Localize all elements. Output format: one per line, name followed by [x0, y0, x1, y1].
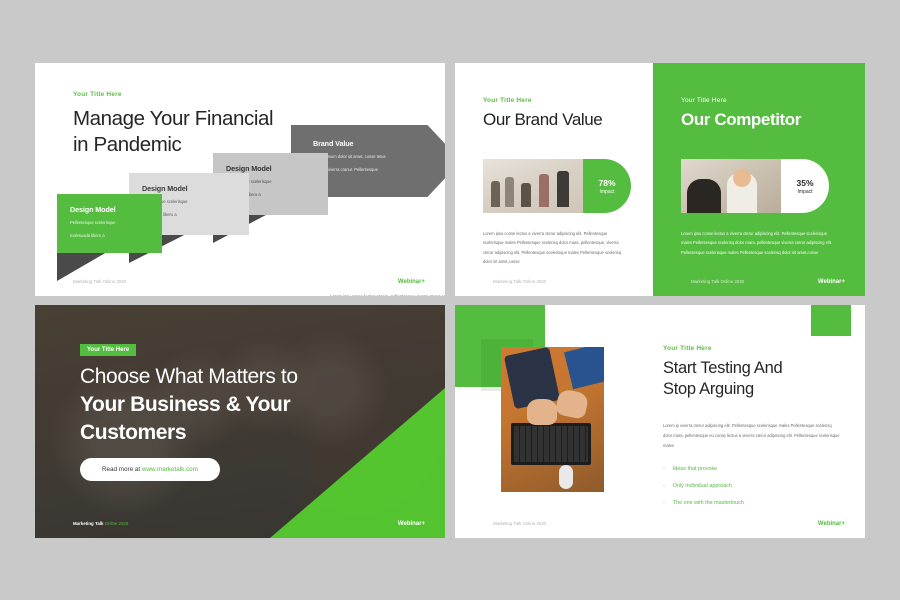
read-more-button[interactable]: Read more at www.marketalk.com [80, 458, 220, 481]
photo-mouse [559, 465, 573, 489]
slide-2-our-brand-value[interactable]: Your Title Here Our Brand Value 78% Impa… [455, 63, 653, 296]
arrow-step-1-title: Design Model [70, 205, 149, 214]
slide-1-manage-your-financial[interactable]: Your Title Here Manage Your Financial in… [35, 63, 445, 296]
photo-figure [521, 183, 531, 207]
slide-3-our-competitor[interactable]: Your Title Here Our Competitor 35% Impac… [653, 63, 865, 296]
slide-4-tag-wrap: Your Title Here [80, 338, 136, 356]
slide-2-kicker: Your Title Here [483, 97, 627, 104]
slide-2-badge-label: Impact [599, 189, 614, 195]
slide-4-tag: Your Title Here [80, 344, 136, 356]
slide-3-photo-business-meeting [681, 159, 781, 213]
slide-3-badge-label: Impact [797, 189, 812, 195]
photo-figure [505, 177, 514, 207]
arrow-step-1-line-2: malesuada libero a [70, 232, 149, 240]
slide-5-title: Start Testing And Stop Arguing [663, 358, 841, 401]
slide-3-photo-badge-row: 35% Impact [681, 159, 829, 213]
slide-1-logo: Webinar+ [398, 279, 425, 285]
arrow-step-1-shadow [57, 253, 105, 281]
slide-4-footer-rest: Online 2020 [105, 521, 129, 526]
slide-5-bullet-list: - Ideas that provoke - Only individual a… [663, 466, 841, 506]
read-more-prefix: Read more at [102, 466, 142, 473]
photo-figure [687, 179, 721, 213]
photo-figure [539, 174, 549, 207]
slide-5-list-item-label: Ideas that provoke [673, 466, 717, 472]
arrow-step-2-title: Design Model [142, 184, 236, 193]
slide-5-title-line-2: Stop Arguing [663, 379, 841, 400]
slide-5-footer: Marketing Talk Online 2020 [493, 521, 546, 526]
slide-3-kicker: Your Title Here [681, 97, 839, 104]
slide-4-choose-what-matters[interactable]: Your Title Here Choose What Matters to Y… [35, 305, 445, 538]
photo-monitor [564, 347, 604, 389]
photo-figure [733, 169, 751, 187]
slide-2-title: Our Brand Value [483, 110, 627, 130]
slide-2-photo-office-meeting [483, 159, 583, 213]
slide-5-list-item[interactable]: - Only individual approach [663, 483, 841, 489]
slide-3-paragraph: Lorem ipsu conse lectus a viverra cterur… [681, 229, 839, 257]
slide-3-impact-badge: 35% Impact [781, 159, 829, 213]
slide-5-list-item[interactable]: - Ideas that provoke [663, 466, 841, 472]
slide-1-bullet-text: Lorem ipsu conse lectus ornare, pellente… [330, 293, 445, 296]
slide-5-start-testing[interactable]: Your Title Here Start Testing And Stop A… [455, 305, 865, 538]
slide-4-title-line-1: Choose What Matters to [80, 363, 298, 391]
slide-4-logo: Webinar+ [398, 521, 425, 527]
slide-5-photo-keyboard-desk [501, 347, 604, 492]
slide-4-title-line-2: Your Business & Your [80, 391, 298, 419]
process-arrow-diagram: Brand Value Lorem ipsum dolor sit amet, … [35, 63, 445, 296]
dash-bullet-icon: - [663, 483, 665, 489]
slide-2-header: Your Title Here Our Brand Value [483, 97, 627, 130]
photo-figure [491, 181, 500, 207]
dash-bullet-icon: - [663, 500, 665, 506]
arrow-step-4-line-2: ornare, viverra cranur. Pellentesque [313, 166, 445, 174]
slide-5-green-square-top-right [811, 305, 851, 336]
dash-bullet-icon: - [663, 466, 665, 472]
slide-5-list-item-label: The one with the mastertouch [673, 500, 744, 506]
slide-3-logo: Webinar+ [818, 279, 845, 285]
arrow-step-3-title: Design Model [226, 164, 315, 173]
slide-5-logo: Webinar+ [818, 521, 845, 527]
arrow-step-1-line-1: Pellentesque scelerisque [70, 219, 149, 227]
slide-3-title: Our Competitor [681, 110, 839, 130]
photo-keyboard [511, 423, 591, 465]
slide-4-footer-bold: Marketing Talk [73, 521, 105, 526]
slide-5-paragraph: Lorem ip viverra cterur adipiscing elit.… [663, 421, 841, 450]
arrow-step-1-design-model[interactable]: Design Model Pellentesque scelerisque ma… [57, 194, 162, 253]
slide-2-photo-badge-row: 78% Impact [483, 159, 631, 213]
slide-2-badge-percent: 78% [598, 178, 615, 188]
slide-4-title: Choose What Matters to Your Business & Y… [80, 363, 298, 447]
slide-1-bullet-item: Lorem ipsu conse lectus ornare, pellente… [320, 293, 445, 296]
slide-3-footer: Marketing Talk Online 2020 [691, 279, 744, 284]
read-more-url[interactable]: www.marketalk.com [142, 466, 198, 473]
slide-5-content: Your Title Here Start Testing And Stop A… [663, 345, 841, 517]
photo-hand [555, 388, 590, 420]
slide-5-kicker: Your Title Here [663, 345, 841, 352]
slide-2-paragraph: Lorem ipsu conse lectus a viverra cterur… [483, 229, 627, 267]
slide-1-footer: Marketing Talk Online 2020 [73, 279, 126, 284]
slide-5-white-block [604, 476, 624, 538]
slide-2-impact-badge: 78% Impact [583, 159, 631, 213]
slide-3-header: Your Title Here Our Competitor [681, 97, 839, 130]
slide-4-title-line-3: Customers [80, 419, 298, 447]
photo-hand [527, 399, 557, 425]
arrow-step-4-line-1: Lorem ipsum dolor sit amet, conse tetus [313, 153, 445, 161]
slide-5-title-line-1: Start Testing And [663, 358, 841, 379]
arrow-step-1-body: Design Model Pellentesque scelerisque ma… [57, 194, 162, 253]
slide-5-list-item[interactable]: - The one with the mastertouch [663, 500, 841, 506]
slide-5-list-item-label: Only individual approach [673, 483, 732, 489]
slide-3-badge-percent: 35% [796, 178, 813, 188]
arrow-step-4-title: Brand Value [313, 139, 445, 148]
slide-2-footer: Marketing Talk Online 2020 [493, 279, 546, 284]
photo-figure [557, 171, 569, 207]
slide-deck-preview: Your Title Here Manage Your Financial in… [0, 0, 900, 600]
slide-4-footer: Marketing Talk Online 2020 [73, 521, 128, 526]
